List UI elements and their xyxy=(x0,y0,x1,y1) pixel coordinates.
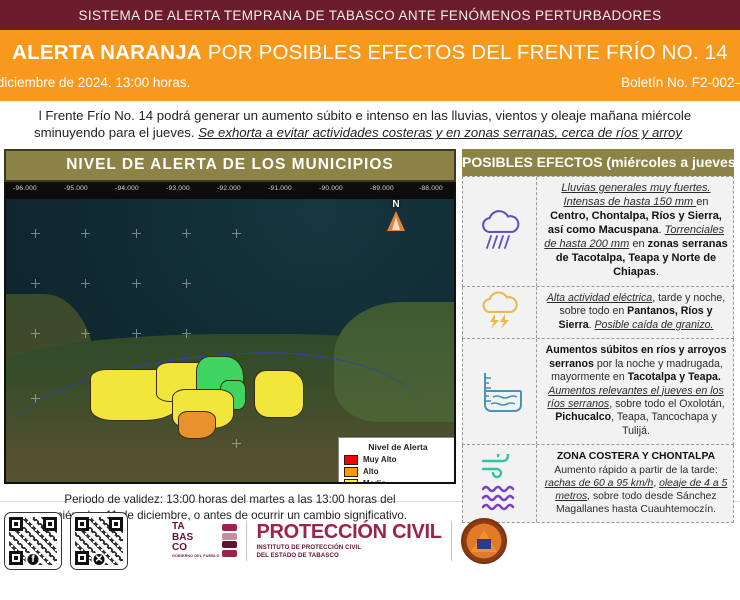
legend-item: Alto xyxy=(344,467,452,477)
lon-tick-label: -91.000 xyxy=(268,185,292,192)
effect-icon-cell xyxy=(463,287,537,338)
effects-title-band: POSIBLES EFECTOS (miércoles a jueves) xyxy=(462,149,734,176)
rain-en-2: en xyxy=(629,238,647,250)
seal-triangle xyxy=(471,530,497,552)
coast-heading: ZONA COSTERA Y CHONTALPA xyxy=(557,451,715,462)
tabasco-tagline: GOBIERNO DEL PUEBLO xyxy=(172,555,219,559)
lightning-hail: Posible caída de granizo. xyxy=(594,319,713,331)
intro-line-2: sminuyendo para el jueves. Se exhorta a … xyxy=(0,124,738,141)
graticule-cross xyxy=(132,279,141,288)
effect-icon-cell xyxy=(463,445,537,522)
axis-tick-bar xyxy=(228,182,280,184)
coast-gusts: rachas de 60 a 95 km/h xyxy=(545,478,654,489)
alert-level-legend: Nivel de Alerta Muy Alto Alto Medio Bajo xyxy=(338,437,456,484)
graticule-cross xyxy=(31,229,40,238)
intro-paragraph: l Frente Frío No. 14 podrá generar un au… xyxy=(0,101,740,149)
waves-icon xyxy=(477,483,523,513)
legend-label: Medio xyxy=(363,479,386,484)
longitude-axis: -96.000 -95.000 -94.000 -93.000 -92.000 … xyxy=(6,184,454,199)
effect-text-coast: ZONA COSTERA Y CHONTALPA Aumento rápido … xyxy=(537,445,733,522)
legend-label: Muy Alto xyxy=(363,455,396,464)
qr-finder xyxy=(75,517,89,531)
effect-row-lightning: Alta actividad eléctrica, tarde y noche,… xyxy=(462,287,734,339)
effect-row-coast: ZONA COSTERA Y CHONTALPA Aumento rápido … xyxy=(462,445,734,523)
rivers-list-1: , sobre todo el Oxolotán, xyxy=(609,398,724,410)
date-bulletin-bar: de diciembre de 2024. 13:00 horas. Bolet… xyxy=(0,75,740,101)
effect-row-rivers: Aumentos súbitos en ríos y arroyos serra… xyxy=(462,339,734,445)
axis-tick-bar xyxy=(126,182,178,184)
alert-level-label: ALERTA NARANJA xyxy=(12,41,202,65)
legend-swatch-muy-alto xyxy=(344,455,358,465)
river-level-icon xyxy=(475,369,525,415)
legend-label: Alto xyxy=(363,467,379,476)
lon-tick-label: -93.000 xyxy=(166,185,190,192)
legend-swatch-alto xyxy=(344,467,358,477)
north-label: N xyxy=(382,200,410,210)
rain-intense: Intensas de hasta 150 mm xyxy=(564,196,697,208)
rain-general: Lluvias generales muy fuertes. xyxy=(561,182,710,194)
wind-icon xyxy=(477,454,523,480)
civil-protection-seal-icon xyxy=(461,518,507,564)
north-arrow-inner xyxy=(392,217,400,230)
effects-panel: POSIBLES EFECTOS (miércoles a jueves) xyxy=(462,149,734,501)
qr-finder xyxy=(9,517,23,531)
qr-code-facebook[interactable]: f xyxy=(4,512,62,570)
rain-punct-2: . xyxy=(656,266,659,278)
logo-divider xyxy=(246,521,247,561)
alert-banner: ALERTA NARANJA POR POSIBLES EFECTOS DEL … xyxy=(0,30,740,75)
proteccion-civil-sub-1: INSTITUTO DE PROTECCIÓN CIVIL xyxy=(256,544,441,552)
bulletin-number-label: Boletín No. F2-002– xyxy=(621,75,740,90)
lon-tick-label: -92.000 xyxy=(217,185,241,192)
axis-tick-bar xyxy=(24,182,76,184)
map-title: NIVEL DE ALERTA DE LOS MUNICIPIOS xyxy=(66,156,394,173)
alert-level-map[interactable]: -96.000 -95.000 -94.000 -93.000 -92.000 … xyxy=(4,182,456,484)
graticule-cross xyxy=(182,229,191,238)
graticule-cross xyxy=(81,279,90,288)
rivers-pichucalco: Pichucalco xyxy=(555,411,611,423)
rivers-zones: Tacotalpa y Teapa. xyxy=(628,371,721,383)
graticule-cross xyxy=(132,229,141,238)
legend-item: Medio xyxy=(344,479,452,484)
legend-item: Muy Alto xyxy=(344,455,452,465)
effect-text-rivers: Aumentos súbitos en ríos y arroyos serra… xyxy=(537,339,733,444)
legend-swatch-medio xyxy=(344,479,358,484)
map-title-band: NIVEL DE ALERTA DE LOS MUNICIPIOS xyxy=(4,149,456,182)
graticule-cross xyxy=(31,279,40,288)
qr-code-x[interactable]: ✕ xyxy=(70,512,128,570)
municipality-medio xyxy=(254,370,304,418)
lon-tick-label: -94.000 xyxy=(115,185,139,192)
coast-intro: Aumento rápido a partir de la tarde: xyxy=(554,465,717,476)
map-panel: NIVEL DE ALERTA DE LOS MUNICIPIOS xyxy=(4,149,456,501)
lon-tick-label: -89.000 xyxy=(370,185,394,192)
x-twitter-icon: ✕ xyxy=(92,552,107,567)
graticule-cross xyxy=(232,229,241,238)
qr-finder xyxy=(43,517,57,531)
municipality-alto xyxy=(178,411,216,439)
effects-title: POSIBLES EFECTOS (miércoles a jueves) xyxy=(462,154,740,170)
effect-icon-cell xyxy=(463,177,537,286)
proteccion-civil-logo: PROTECCIÓN CIVIL INSTITUTO DE PROTECCIÓN… xyxy=(256,521,441,560)
tabasco-government-logo: TA BAS CO GOBIERNO DEL PUEBLO xyxy=(172,522,237,558)
lon-tick-label: -96.000 xyxy=(13,185,37,192)
rivers-list-2: , Teapa, Tancochapa y Tulijá. xyxy=(611,411,717,436)
qr-finder xyxy=(109,517,123,531)
effect-row-rain: Lluvias generales muy fuertes. Intensas … xyxy=(462,176,734,287)
graticule-cross xyxy=(182,279,191,288)
qr-finder xyxy=(9,551,23,565)
system-title: SISTEMA DE ALERTA TEMPRANA DE TABASCO AN… xyxy=(78,8,661,23)
rain-en: en xyxy=(696,196,708,208)
issue-date-label: de diciembre de 2024. 13:00 horas. xyxy=(0,75,190,90)
intro-line-2-plain: sminuyendo para el jueves. xyxy=(34,125,198,140)
legend-title: Nivel de Alerta xyxy=(344,442,452,452)
graticule-cross xyxy=(182,329,191,338)
proteccion-civil-sub-2: DEL ESTADO DE TABASCO xyxy=(256,552,441,560)
system-title-bar: SISTEMA DE ALERTA TEMPRANA DE TABASCO AN… xyxy=(0,0,740,30)
intro-line-1: l Frente Frío No. 14 podrá generar un au… xyxy=(0,107,738,124)
content-columns: NIVEL DE ALERTA DE LOS MUNICIPIOS xyxy=(0,149,740,501)
logo-divider xyxy=(451,521,452,561)
graticule-cross xyxy=(81,329,90,338)
axis-tick-bar xyxy=(330,182,382,184)
tabasco-line-3: CO xyxy=(172,543,219,553)
graticule-cross xyxy=(31,329,40,338)
facebook-icon: f xyxy=(26,552,41,567)
lon-tick-label: -95.000 xyxy=(64,185,88,192)
graticule-cross xyxy=(132,329,141,338)
intro-line-2-emphasis: Se exhorta a evitar actividades costeras… xyxy=(198,125,682,140)
proteccion-civil-title: PROTECCIÓN CIVIL xyxy=(256,521,441,544)
tabasco-wordmark: TA BAS CO GOBIERNO DEL PUEBLO xyxy=(172,522,219,558)
lightning-activity: Alta actividad eléctrica xyxy=(547,292,652,304)
north-arrow-icon: N xyxy=(382,200,410,230)
graticule-cross xyxy=(81,229,90,238)
effect-text-rain: Lluvias generales muy fuertes. Intensas … xyxy=(537,177,733,286)
thunderstorm-icon xyxy=(477,291,523,333)
alert-subject-label: POR POSIBLES EFECTOS DEL FRENTE FRÍO NO.… xyxy=(208,41,728,65)
axis-tick-bar xyxy=(432,182,454,184)
effect-text-lightning: Alta actividad eléctrica, tarde y noche,… xyxy=(537,287,733,338)
effect-icon-cell xyxy=(463,339,537,444)
lon-tick-label: -88.000 xyxy=(419,185,443,192)
qr-finder xyxy=(75,551,89,565)
tabasco-emblem-icon xyxy=(222,524,237,557)
effects-table: Lluvias generales muy fuertes. Intensas … xyxy=(462,176,734,523)
institutional-logos: TA BAS CO GOBIERNO DEL PUEBLO PROTECCIÓN… xyxy=(172,518,507,564)
rain-cloud-icon xyxy=(476,209,524,253)
lon-tick-label: -90.000 xyxy=(319,185,343,192)
